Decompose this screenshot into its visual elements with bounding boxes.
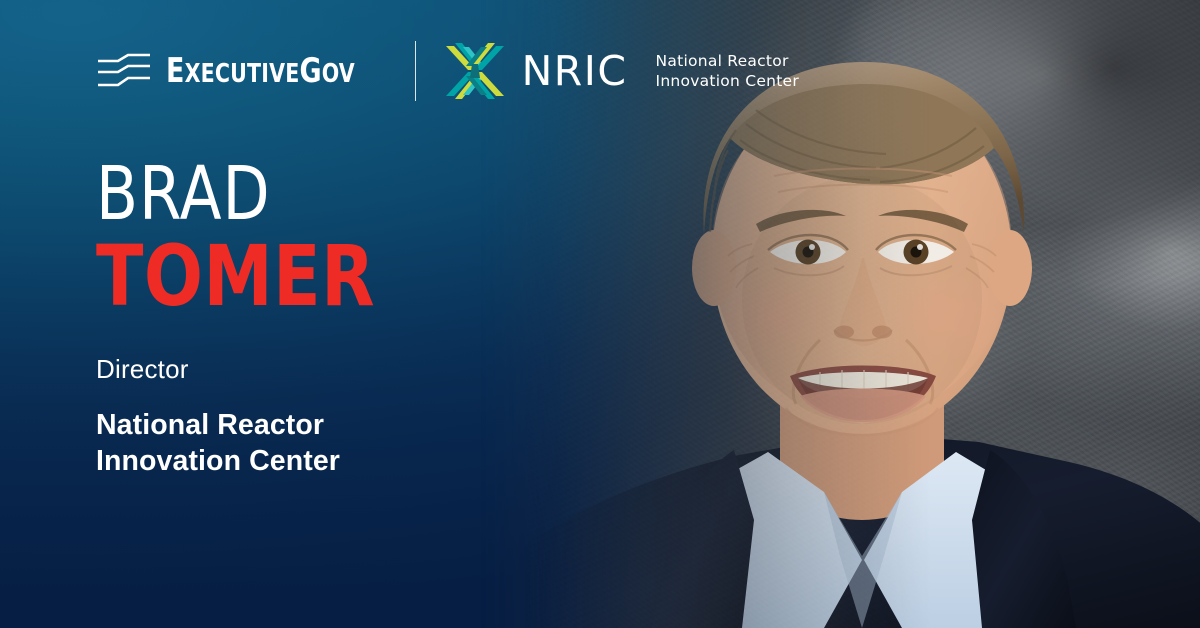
- person-first-name: BRAD: [96, 160, 375, 230]
- nric-acronym: NRIC: [522, 51, 628, 92]
- person-organization-line2: Innovation Center: [96, 443, 399, 479]
- social-feature-card: EXECUTIVEGOV: [0, 0, 1200, 628]
- person-last-name: TOMER: [96, 234, 375, 318]
- person-organization: National Reactor Innovation Center: [96, 407, 399, 480]
- executivegov-logo[interactable]: EXECUTIVEGOV: [96, 53, 381, 89]
- header-logos: EXECUTIVEGOV: [96, 40, 799, 102]
- person-role: Director: [96, 354, 399, 385]
- person-info: BRAD TOMER Director National Reactor Inn…: [96, 160, 399, 479]
- butterfly-x-icon: [442, 40, 508, 102]
- person-organization-line1: National Reactor: [96, 407, 399, 443]
- nric-tagline: National Reactor Innovation Center: [656, 51, 799, 92]
- logo-divider: [415, 41, 416, 101]
- nric-tagline-line1: National Reactor: [656, 51, 799, 71]
- nric-logo[interactable]: NRIC National Reactor Innovation Center: [442, 40, 799, 102]
- wave-lines-icon: [96, 53, 152, 89]
- executivegov-wordmark: EXECUTIVEGOV: [166, 54, 355, 88]
- nric-tagline-line2: Innovation Center: [656, 71, 799, 91]
